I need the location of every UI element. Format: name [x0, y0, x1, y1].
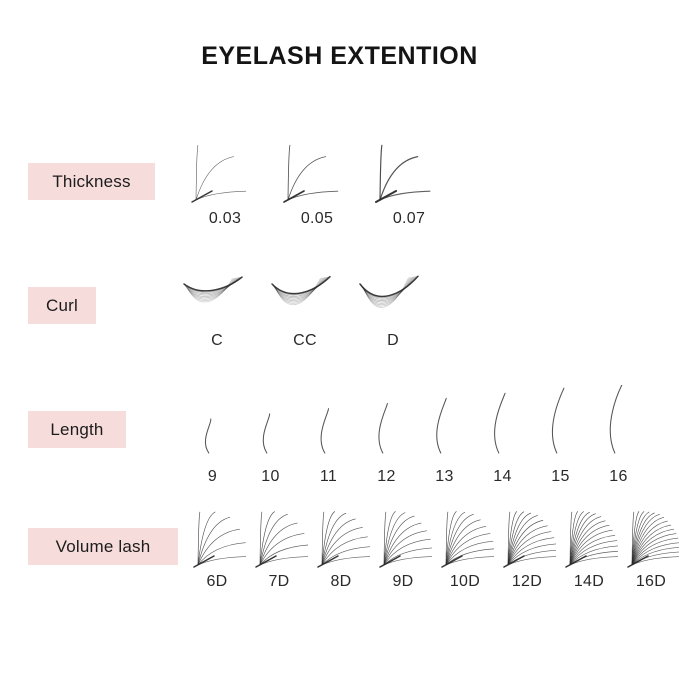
sample-caption: 10 — [261, 468, 279, 486]
sample-caption: 8D — [330, 573, 351, 591]
sample-caption: 13 — [435, 468, 453, 486]
row-thickness: Thickness 0.030.050.07 — [0, 120, 679, 240]
sample-cell[interactable]: 12 — [368, 385, 405, 486]
sample-cell[interactable]: 10 — [252, 385, 289, 486]
page-title: EYELASH EXTENTION — [0, 42, 679, 71]
sample-cell[interactable]: 13 — [426, 385, 463, 486]
eyelash-extension-chart: EYELASH EXTENTION Thickness 0.030.050.07… — [0, 0, 679, 679]
lash-art-icon — [278, 128, 356, 208]
row-label-length-text: Length — [50, 420, 103, 440]
volume-samples: 6D7D8D9D10D12D14D16D — [188, 495, 679, 591]
sample-cell[interactable]: C — [178, 270, 256, 350]
lash-art-icon — [194, 385, 231, 467]
sample-caption: 16 — [609, 468, 627, 486]
sample-caption: 0.05 — [301, 210, 333, 228]
sample-cell[interactable]: 14D — [560, 495, 618, 591]
row-label-thickness-text: Thickness — [52, 172, 130, 192]
sample-caption: 15 — [551, 468, 569, 486]
lash-art-icon — [186, 128, 264, 208]
sample-cell[interactable]: 6D — [188, 495, 246, 591]
lash-art-icon — [370, 128, 448, 208]
lash-art-icon — [560, 495, 618, 573]
lash-art-icon — [178, 270, 256, 328]
row-curl: Curl CCCD — [0, 265, 679, 385]
sample-cell[interactable]: 16D — [622, 495, 679, 591]
sample-cell[interactable]: 15 — [542, 385, 579, 486]
thickness-samples: 0.030.050.07 — [186, 128, 448, 228]
row-label-curl: Curl — [28, 287, 96, 324]
lash-art-icon — [312, 495, 370, 573]
row-length: Length 910111213141516 — [0, 385, 679, 505]
lash-art-icon — [368, 385, 405, 467]
lash-art-icon — [484, 385, 521, 467]
sample-cell[interactable]: 9D — [374, 495, 432, 591]
length-samples: 910111213141516 — [194, 385, 637, 486]
sample-caption: 16D — [636, 573, 666, 591]
sample-caption: 9D — [392, 573, 413, 591]
sample-caption: 6D — [206, 573, 227, 591]
row-label-thickness: Thickness — [28, 163, 155, 200]
sample-caption: C — [211, 332, 223, 350]
sample-cell[interactable]: D — [354, 270, 432, 350]
row-label-volume-text: Volume lash — [56, 537, 151, 557]
lash-art-icon — [310, 385, 347, 467]
sample-cell[interactable]: 9 — [194, 385, 231, 486]
sample-cell[interactable]: CC — [266, 270, 344, 350]
sample-caption: 12D — [512, 573, 542, 591]
lash-art-icon — [252, 385, 289, 467]
sample-cell[interactable]: 7D — [250, 495, 308, 591]
sample-cell[interactable]: 12D — [498, 495, 556, 591]
sample-cell[interactable]: 14 — [484, 385, 521, 486]
sample-cell[interactable]: 16 — [600, 385, 637, 486]
sample-cell[interactable]: 11 — [310, 385, 347, 486]
curl-samples: CCCD — [178, 270, 432, 350]
lash-art-icon — [250, 495, 308, 573]
row-volume: Volume lash 6D7D8D9D10D12D14D16D — [0, 495, 679, 615]
sample-caption: 10D — [450, 573, 480, 591]
lash-art-icon — [354, 270, 432, 328]
row-label-length: Length — [28, 411, 126, 448]
sample-caption: 0.03 — [209, 210, 241, 228]
row-label-volume: Volume lash — [28, 528, 178, 565]
sample-caption: CC — [293, 332, 317, 350]
lash-art-icon — [374, 495, 432, 573]
row-label-curl-text: Curl — [46, 296, 78, 316]
lash-art-icon — [498, 495, 556, 573]
sample-cell[interactable]: 0.05 — [278, 128, 356, 228]
sample-caption: 14 — [493, 468, 511, 486]
lash-art-icon — [266, 270, 344, 328]
sample-cell[interactable]: 10D — [436, 495, 494, 591]
lash-art-icon — [600, 385, 637, 467]
lash-art-icon — [622, 495, 679, 573]
sample-caption: D — [387, 332, 399, 350]
lash-art-icon — [188, 495, 246, 573]
lash-art-icon — [542, 385, 579, 467]
lash-art-icon — [426, 385, 463, 467]
sample-cell[interactable]: 0.07 — [370, 128, 448, 228]
sample-caption: 7D — [268, 573, 289, 591]
sample-caption: 0.07 — [393, 210, 425, 228]
sample-caption: 11 — [320, 468, 337, 486]
sample-caption: 12 — [377, 468, 395, 486]
sample-caption: 9 — [208, 468, 217, 486]
sample-caption: 14D — [574, 573, 604, 591]
sample-cell[interactable]: 8D — [312, 495, 370, 591]
lash-art-icon — [436, 495, 494, 573]
sample-cell[interactable]: 0.03 — [186, 128, 264, 228]
